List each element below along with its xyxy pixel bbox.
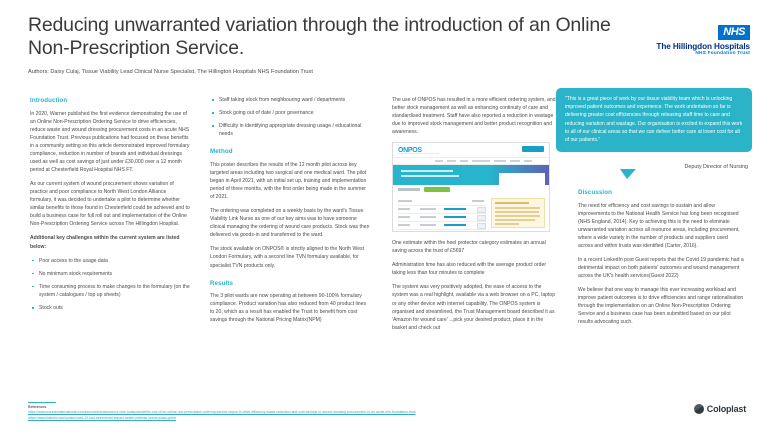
notice-line (495, 211, 539, 213)
results-paragraph-5: The system was very positively adopted, … (392, 283, 557, 331)
poster-canvas: Reducing unwarranted variation through t… (0, 0, 768, 432)
screenshot-hero-banner (393, 165, 549, 185)
table-row (398, 198, 486, 206)
cell (398, 224, 410, 226)
nav-item (460, 160, 468, 162)
cell (398, 200, 412, 202)
coloplast-wordmark: Coloplast (707, 404, 746, 414)
list-item: Stock going out of date / poor governanc… (210, 109, 370, 117)
intro-paragraph-1: In 2020, Warner published the first evid… (30, 110, 190, 174)
cell (444, 216, 466, 218)
section-heading-method: Method (210, 147, 370, 157)
onpos-logo-subtitle: Online Non-Prescription Ordering Service (398, 153, 439, 156)
section-heading-introduction: Introduction (30, 96, 190, 106)
row-action-button (477, 223, 486, 229)
screenshot-basket-button (522, 146, 544, 152)
hero-text-line (401, 170, 453, 172)
nav-item (494, 160, 506, 162)
cell (398, 216, 410, 218)
list-item: Staff taking stock from neighbouring war… (210, 96, 370, 104)
nhs-logo: NHS The Hillingdon Hospitals NHS Foundat… (656, 22, 750, 56)
references-label: References (28, 405, 728, 409)
screenshot-green-button (424, 187, 450, 192)
coloplast-mark-icon (694, 404, 704, 414)
list-item: No minimum stock requirements (30, 270, 190, 278)
section-heading-discussion: Discussion (578, 188, 744, 198)
challenges-lead-text: Additional key challenges within the cur… (30, 234, 190, 250)
cell (444, 224, 466, 226)
reference-link-2[interactable]: https://www.linkedin.com/pulse/covid-19-… (28, 416, 728, 421)
quote-tail-icon (620, 169, 636, 179)
nhs-badge-icon: NHS (718, 25, 750, 40)
discussion-paragraph-1: The need for efficiency and cost savings… (578, 202, 744, 250)
nav-item (435, 160, 443, 162)
table-row (398, 206, 486, 214)
table-row (398, 214, 486, 222)
column-introduction: Introduction In 2020, Warner published t… (30, 96, 190, 318)
footer-divider (28, 402, 56, 403)
hero-side-card (499, 173, 545, 185)
discussion-paragraph-2: In a recent LinkedIn post Guest reports … (578, 256, 744, 280)
page-title: Reducing unwarranted variation through t… (28, 14, 648, 60)
list-item: Poor access to the usage data (30, 257, 190, 265)
cell (420, 224, 436, 226)
list-item: Time consuming process to make changes t… (30, 283, 190, 299)
results-paragraph-2: The use of ONPOS has resulted in a more … (392, 96, 557, 136)
list-item: Stock outs (30, 304, 190, 312)
nav-item (447, 160, 456, 162)
challenges-list: Poor access to the usage data No minimum… (30, 257, 190, 312)
notice-line (495, 219, 535, 221)
intro-paragraph-2: As our current system of wound procureme… (30, 180, 190, 228)
discussion-paragraph-3: We believe that one way to manage this e… (578, 286, 744, 326)
quote-attribution: Deputy Director of Nursing (556, 164, 752, 170)
results-paragraph-4: Administration time has also reduced wit… (392, 261, 557, 277)
column-discussion: Discussion The need for efficiency and c… (578, 188, 744, 332)
section-heading-results: Results (210, 279, 370, 289)
column-method-results: Staff taking stock from neighbouring war… (210, 96, 370, 331)
method-paragraph-2: The ordering was completed on a weekly b… (210, 207, 370, 239)
notice-line (495, 223, 519, 225)
nav-item (472, 160, 490, 162)
notice-line (495, 207, 540, 209)
references-footer: References https://www.woundsinternation… (28, 402, 728, 421)
table-row (398, 222, 486, 230)
onpos-portal-screenshot: ONPOS Online Non-Prescription Ordering S… (392, 142, 550, 232)
method-paragraph-3: The stock available on ONPOS® is strictl… (210, 245, 370, 269)
poster-header: Reducing unwarranted variation through t… (28, 14, 648, 76)
row-action-button (477, 207, 486, 213)
testimonial-quote-block: "This is a great piece of work by our ti… (556, 88, 752, 170)
screenshot-notice-panel (491, 198, 545, 228)
screenshot-welcome-row (393, 185, 549, 195)
welcome-label (398, 188, 420, 191)
row-action-button (477, 215, 486, 221)
cell (444, 208, 466, 210)
results-paragraph-3: One estimate within the heel protector c… (392, 239, 557, 255)
nav-item (524, 160, 532, 162)
column-results-continued: The use of ONPOS has resulted in a more … (392, 96, 557, 338)
list-item: Difficulty in identifying appropriate dr… (210, 122, 370, 138)
notice-heading (495, 202, 529, 204)
method-paragraph-1: This poster describes the results of the… (210, 161, 370, 201)
nhs-foundation-label: NHS Foundation Trust (656, 51, 750, 56)
screenshot-order-table (398, 198, 486, 230)
cell (420, 208, 436, 210)
hero-text-line (401, 175, 459, 177)
notice-line (495, 215, 540, 217)
screenshot-content-area (393, 195, 549, 231)
screenshot-topbar: ONPOS Online Non-Prescription Ordering S… (393, 143, 549, 158)
cell (420, 216, 436, 218)
challenges-list-continued: Staff taking stock from neighbouring war… (210, 96, 370, 138)
nhs-trust-name: The Hillingdon Hospitals (656, 42, 750, 51)
results-paragraph-1: The 3 pilot wards are now operating at b… (210, 292, 370, 324)
cell (398, 208, 410, 210)
quote-bubble: "This is a great piece of work by our ti… (556, 88, 752, 152)
screenshot-navbar (393, 158, 549, 165)
authors-line: Authors: Daisy Culaj, Tissue Viability L… (28, 69, 648, 76)
nav-item (510, 160, 520, 162)
coloplast-logo: Coloplast (694, 404, 746, 414)
cell (472, 200, 484, 202)
